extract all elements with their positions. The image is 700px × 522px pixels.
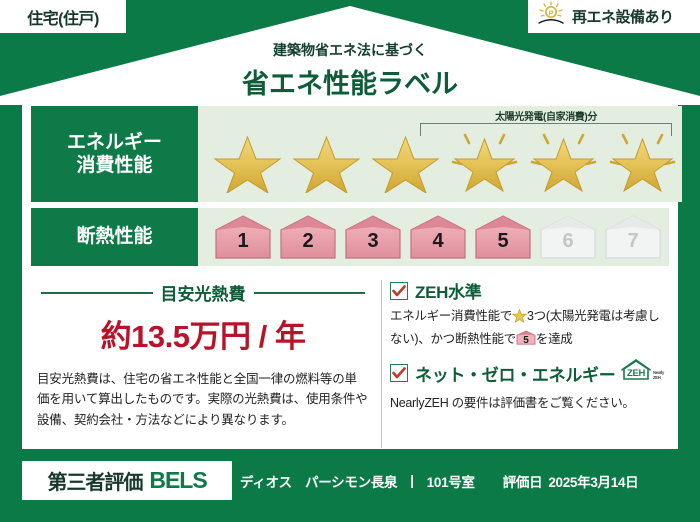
utility-cost-heading-text: 目安光熱費 — [161, 280, 246, 305]
utility-cost-note: 目安光熱費は、住宅の省エネ性能と全国一律の燃料等の単価を用いて算出したものです。… — [35, 369, 371, 430]
house-level-icon: 4 — [407, 214, 469, 260]
heading-rule-left — [41, 292, 153, 294]
star-icon-solar — [524, 129, 603, 193]
svg-text:ZEH: ZEH — [627, 368, 646, 379]
energy-performance-key: エネルギー 消費性能 — [31, 106, 198, 202]
check-body-net-zero-energy: NearlyZEH の要件は評価書をご覧ください。 — [390, 393, 667, 413]
footer-metadata: ディオス パーシモン長泉 | 101号室 評価日 2025年3月14日 — [240, 461, 638, 500]
title-main: 省エネ性能ラベル — [0, 62, 700, 101]
energy-key-line1: エネルギー — [67, 131, 162, 154]
star-rating — [198, 129, 682, 193]
panel-divider — [381, 280, 382, 448]
solar-annotation-label: 太陽光発電(自家消費)分 — [420, 108, 672, 123]
room-number: 101号室 — [427, 471, 475, 491]
star-icon-inline — [512, 309, 527, 329]
house-level-icon: 2 — [277, 214, 339, 260]
energy-performance-label: 住宅(住戸) P 再エネ設備あり 建築物省エネ法に基づく — [0, 0, 700, 522]
house-level-icon: 7 — [602, 214, 664, 260]
house-level-icon: 3 — [342, 214, 404, 260]
eval-date-label: 評価日 — [503, 471, 543, 491]
check-body-text-3: を達成 — [536, 332, 573, 346]
renewable-badge-label: 再エネ設備あり — [572, 6, 674, 27]
bels-logo-en: BELS — [149, 467, 206, 494]
energy-performance-value: 太陽光発電(自家消費)分 — [198, 106, 682, 202]
house-level-number-inline: 5 — [516, 333, 536, 349]
house-level-icon: 1 — [212, 214, 274, 260]
insulation-level-scale: 1 2 3 — [198, 214, 664, 260]
certification-panel: ZEH水準 エネルギー消費性能で3つ(太陽光発電は考慮しない)、かつ断熱性能で5… — [390, 276, 669, 454]
check-title-text: ネット・ゼロ・エネルギー — [415, 361, 615, 386]
check-item-net-zero-energy: ネット・ゼロ・エネルギー ZEH Nearly ZEH — [390, 358, 667, 413]
bels-logo-jp: 第三者評価 — [47, 466, 142, 495]
check-icon — [392, 285, 406, 297]
label-footer: 第三者評価 BELS ディオス パーシモン長泉 | 101号室 評価日 2025… — [0, 449, 700, 522]
star-icon-solar — [603, 129, 682, 193]
svg-text:P: P — [548, 8, 553, 17]
house-level-icon: 5 — [472, 214, 534, 260]
housing-type-badge: 住宅(住戸) — [0, 0, 126, 33]
renewable-energy-badge: P 再エネ設備あり — [528, 0, 700, 33]
energy-performance-row: エネルギー 消費性能 太陽光発電(自家消費)分 — [31, 106, 669, 202]
house-level-number: 6 — [537, 230, 599, 253]
check-body-star-count: 3つ — [527, 309, 546, 323]
bels-logo: 第三者評価 BELS — [22, 461, 232, 500]
title-subtitle: 建築物省エネ法に基づく — [0, 40, 700, 60]
star-icon — [366, 129, 445, 193]
insulation-performance-value: 1 2 3 — [198, 208, 669, 266]
check-title-net-zero-energy: ネット・ゼロ・エネルギー ZEH Nearly ZEH — [415, 358, 666, 388]
check-title-zeh-standard: ZEH水準 — [415, 278, 482, 303]
star-icon-solar — [445, 129, 524, 193]
house-level-number: 7 — [602, 230, 664, 253]
insulation-performance-row: 断熱性能 1 — [31, 208, 669, 266]
check-body-text-1: エネルギー消費性能で — [390, 309, 512, 323]
building-name: ディオス パーシモン長泉 — [240, 471, 397, 491]
footer-separator: | — [397, 473, 426, 488]
heading-rule-right — [254, 292, 366, 294]
house-level-number: 4 — [407, 230, 469, 253]
check-body-zeh-standard: エネルギー消費性能で3つ(太陽光発電は考慮しない)、かつ断熱性能で5を達成 — [390, 306, 667, 349]
energy-key-line2: 消費性能 — [76, 154, 152, 177]
house-level-icon: 6 — [537, 214, 599, 260]
utility-cost-panel: 目安光熱費 約13.5万円 / 年 目安光熱費は、住宅の省エネ性能と全国一律の燃… — [31, 276, 381, 454]
checkbox-zeh-standard[interactable] — [390, 282, 408, 300]
star-icon — [208, 129, 287, 193]
check-item-zeh-standard: ZEH水準 エネルギー消費性能で3つ(太陽光発電は考慮しない)、かつ断熱性能で5… — [390, 278, 667, 349]
star-icon — [287, 129, 366, 193]
insulation-performance-key: 断熱性能 — [31, 208, 198, 266]
check-head: ネット・ゼロ・エネルギー ZEH Nearly ZEH — [390, 358, 667, 388]
eval-date-value: 2025年3月14日 — [548, 471, 638, 491]
check-icon — [392, 367, 406, 379]
house-level-number: 1 — [212, 230, 274, 253]
utility-cost-value: 約13.5万円 / 年 — [35, 311, 371, 356]
house-level-number: 2 — [277, 230, 339, 253]
lower-section: 目安光熱費 約13.5万円 / 年 目安光熱費は、住宅の省エネ性能と全国一律の燃… — [31, 276, 669, 454]
house-level-number: 3 — [342, 230, 404, 253]
checkbox-net-zero-energy[interactable] — [390, 364, 408, 382]
check-head: ZEH水準 — [390, 278, 667, 303]
housing-type-label: 住宅(住戸) — [27, 5, 99, 29]
zeh-house-logo: ZEH Nearly ZEH — [620, 358, 666, 388]
label-title-block: 建築物省エネ法に基づく 省エネ性能ラベル — [0, 40, 700, 101]
label-body-card: エネルギー 消費性能 太陽光発電(自家消費)分 — [22, 98, 678, 449]
house-level-number: 5 — [472, 230, 534, 253]
utility-cost-heading: 目安光熱費 — [35, 280, 371, 305]
sun-rays-icon: P — [536, 1, 566, 32]
insulation-key-label: 断熱性能 — [76, 225, 152, 248]
svg-text:ZEH: ZEH — [653, 375, 661, 380]
house-level-icon-inline: 5 — [516, 330, 536, 345]
